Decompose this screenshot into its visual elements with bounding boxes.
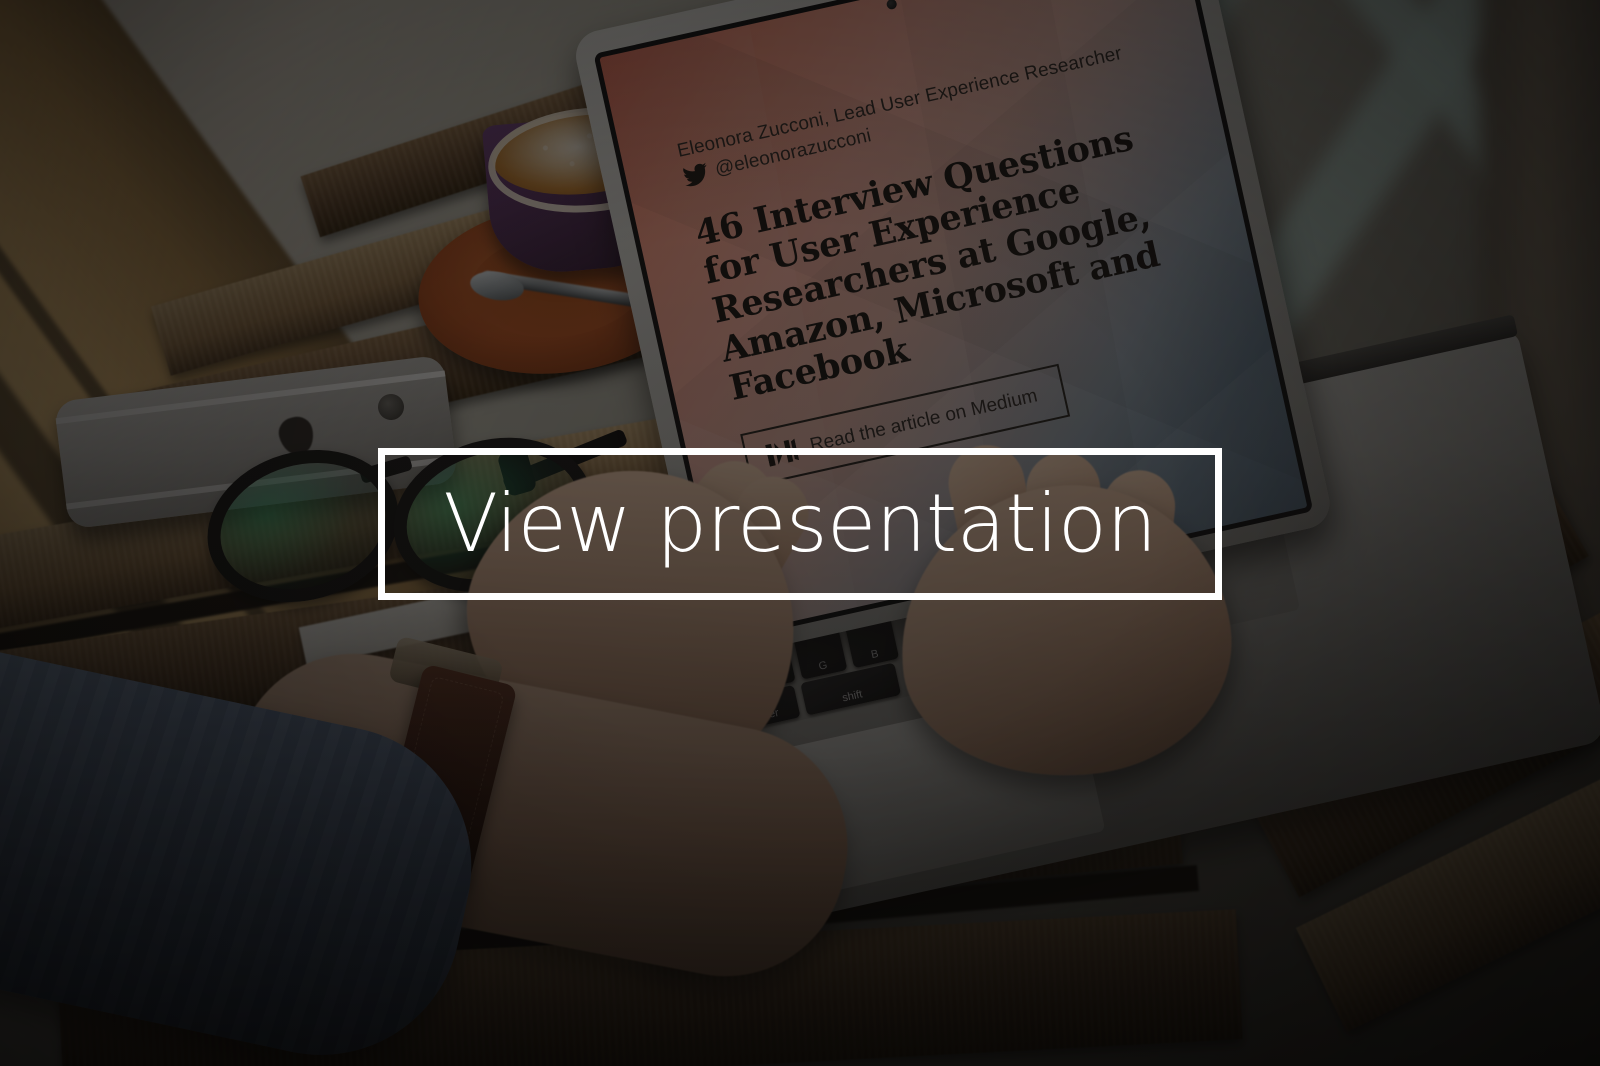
view-presentation-button[interactable]: View presentation	[378, 448, 1222, 600]
view-presentation-label: View presentation	[443, 484, 1156, 564]
screenshot-root: MacBook Air F9 F10 F11 F12 ⏻ 0 - = delet…	[0, 0, 1600, 1066]
